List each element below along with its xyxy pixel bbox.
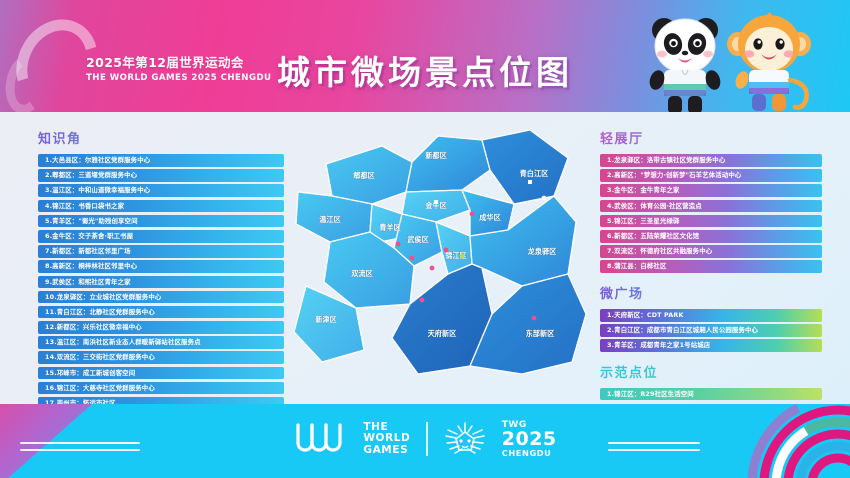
map-marker[interactable] — [420, 298, 425, 303]
map-region-qingbaijiang — [482, 130, 568, 204]
exhibition-item[interactable]: 4.武侯区：体育公园·社区营造点 — [600, 200, 822, 213]
map-label-qingyang: 青羊区 — [379, 223, 401, 232]
exhibition-item[interactable]: 5.锦江区：三圣星光绿驿 — [600, 215, 822, 228]
panda-mascot — [642, 8, 728, 112]
knowledge-item[interactable]: 11.青白江区：北静社区党群服务中心 — [38, 306, 284, 319]
poster-footer: THE WORLD GAMES TWG 2025 CHENGDU — [0, 404, 850, 478]
knowledge-item[interactable]: 1.大邑县区：尔雅社区党群服务中心 — [38, 154, 284, 167]
map-label-shuangliu: 双流区 — [351, 269, 373, 278]
map-region-dongbu — [470, 274, 586, 374]
knowledge-item[interactable]: 12.新都区：兴乐社区微幸福中心 — [38, 321, 284, 334]
map-marker[interactable] — [460, 254, 465, 259]
map-marker[interactable] — [430, 266, 435, 271]
section-micro-plaza: 微广场 1.天府新区：CDT PARK2.青白江区：成都市青白江区城厢人民公园服… — [600, 283, 822, 352]
section-title-demo: 示范点位 — [600, 362, 822, 381]
plaza-item[interactable]: 3.青羊区：成都青年之家1号站城店 — [600, 339, 822, 352]
map-label-dongbu: 东部新区 — [526, 329, 555, 338]
map-marker[interactable] — [396, 242, 401, 247]
demo-list: 1.锦江区：R29社区生活空间 — [600, 388, 822, 401]
map-label-xindu: 新都区 — [425, 151, 447, 160]
map-marker[interactable] — [532, 316, 537, 321]
section-light-exhibition: 轻展厅 1.龙泉驿区：洛带古镇社区党群服务中心2.高新区："梦想力·创新梦"石羊… — [600, 128, 822, 273]
exhibition-item[interactable]: 7.双流区：怀德府社区共融服务中心 — [600, 245, 822, 258]
poster-body: 知识角 1.大邑县区：尔雅社区党群服务中心2.郫都区：三道堰党群服务中心3.温江… — [0, 112, 850, 404]
world-games-w-logo — [293, 422, 347, 456]
knowledge-item[interactable]: 4.锦江区：书香口袋书之家 — [38, 200, 284, 213]
footer-logo-group: THE WORLD GAMES TWG 2025 CHENGDU — [0, 420, 850, 458]
twg-chengdu-emblem — [444, 420, 486, 458]
exhibition-list: 1.龙泉驿区：洛带古镇社区党群服务中心2.高新区："梦想力·创新梦"石羊艺体活动… — [600, 154, 822, 273]
demo-item[interactable]: 1.锦江区：R29社区生活空间 — [600, 388, 822, 401]
knowledge-item[interactable]: 9.武侯区：和熙社区青年之家 — [38, 276, 284, 289]
poster-header: 2025年第12届世界运动会 THE WORLD GAMES 2025 CHEN… — [0, 0, 850, 112]
map-label-xinjin: 新津区 — [315, 315, 337, 324]
right-column: 轻展厅 1.龙泉驿区：洛带古镇社区党群服务中心2.高新区："梦想力·创新梦"石羊… — [600, 128, 822, 403]
section-knowledge-corner: 知识角 1.大邑县区：尔雅社区党群服务中心2.郫都区：三道堰党群服务中心3.温江… — [38, 128, 284, 425]
knowledge-item[interactable]: 8.高新区：桐梓林社区邻里中心 — [38, 260, 284, 273]
world-games-wordmark: THE WORLD GAMES — [363, 422, 410, 456]
section-title-knowledge: 知识角 — [38, 128, 284, 147]
plaza-list: 1.天府新区：CDT PARK2.青白江区：成都市青白江区城厢人民公园服务中心3… — [600, 309, 822, 352]
poster-root: 2025年第12届世界运动会 THE WORLD GAMES 2025 CHEN… — [0, 0, 850, 478]
map-marker[interactable] — [444, 248, 449, 253]
exhibition-item[interactable]: 6.新都区：五陆荣耀社区文化馆 — [600, 230, 822, 243]
exhibition-item[interactable]: 8.蒲江县：白桦社区 — [600, 260, 822, 273]
mascot-group — [636, 2, 842, 112]
twg-line-2: 2025 — [502, 430, 557, 449]
map-svg: 新都区 郫都区 青白江区 金牛区 成华区 温江区 龙泉驿区 武侯区 双流区 锦江… — [286, 118, 596, 398]
exhibition-item[interactable]: 1.龙泉驿区：洛带古镇社区党群服务中心 — [600, 154, 822, 167]
map-marker[interactable] — [410, 256, 415, 261]
map-label-wuhou: 武侯区 — [407, 235, 429, 244]
footer-divider — [426, 422, 427, 456]
map-label-chenghua: 成华区 — [479, 213, 501, 222]
map-label-qingbaijiang: 青白江区 — [520, 169, 549, 178]
knowledge-item[interactable]: 14.双流区：三交街社区党群服务中心 — [38, 351, 284, 364]
knowledge-item[interactable]: 7.新都区：新都社区邻里广场 — [38, 245, 284, 258]
wordmark-line-2: WORLD — [363, 433, 410, 444]
section-demo-points: 示范点位 1.锦江区：R29社区生活空间 — [600, 362, 822, 401]
map-marker[interactable] — [528, 180, 532, 184]
map-region-xindu — [406, 136, 490, 192]
knowledge-item[interactable]: 16.锦江区：大慈寺社区党群服务中心 — [38, 382, 284, 395]
map-label-wenjiang: 温江区 — [318, 215, 341, 224]
knowledge-item[interactable]: 5.青羊区："蜀光"助残创享空间 — [38, 215, 284, 228]
knowledge-item[interactable]: 3.温江区：中和山道微幸福服务中心 — [38, 184, 284, 197]
map-marker[interactable] — [470, 212, 475, 217]
knowledge-item[interactable]: 13.温江区：南浜社区新业态人群暖新驿站社区服务点 — [38, 336, 284, 349]
exhibition-item[interactable]: 2.高新区："梦想力·创新梦"石羊艺体活动中心 — [600, 169, 822, 182]
left-column: 知识角 1.大邑县区：尔雅社区党群服务中心2.郫都区：三道堰党群服务中心3.温江… — [38, 128, 284, 427]
section-title-plaza: 微广场 — [600, 283, 822, 302]
exhibition-item[interactable]: 3.金牛区：金牛青年之家 — [600, 184, 822, 197]
knowledge-item[interactable]: 15.邛崃市：成工新城创客空间 — [38, 367, 284, 380]
plaza-item[interactable]: 1.天府新区：CDT PARK — [600, 309, 822, 322]
map-marker[interactable] — [434, 200, 438, 204]
knowledge-item[interactable]: 6.金牛区：交子茶舍·职工书屋 — [38, 230, 284, 243]
section-title-exhibition: 轻展厅 — [600, 128, 822, 147]
twg-wordmark: TWG 2025 CHENGDU — [502, 421, 557, 458]
twg-line-3: CHENGDU — [502, 449, 557, 457]
chengdu-district-map: 新都区 郫都区 青白江区 金牛区 成华区 温江区 龙泉驿区 武侯区 双流区 锦江… — [286, 118, 596, 398]
monkey-mascot — [722, 4, 818, 112]
knowledge-list: 1.大邑县区：尔雅社区党群服务中心2.郫都区：三道堰党群服务中心3.温江区：中和… — [38, 154, 284, 425]
wordmark-line-3: GAMES — [363, 445, 410, 456]
map-marker[interactable] — [542, 196, 547, 201]
map-label-pidu: 郫都区 — [353, 171, 375, 180]
plaza-item[interactable]: 2.青白江区：成都市青白江区城厢人民公园服务中心 — [600, 324, 822, 337]
map-label-tianfu: 天府新区 — [428, 329, 457, 338]
knowledge-item[interactable]: 10.龙泉驿区：立业城社区党群服务中心 — [38, 291, 284, 304]
knowledge-item[interactable]: 2.郫都区：三道堰党群服务中心 — [38, 169, 284, 182]
map-label-longquanyi: 龙泉驿区 — [527, 247, 557, 256]
